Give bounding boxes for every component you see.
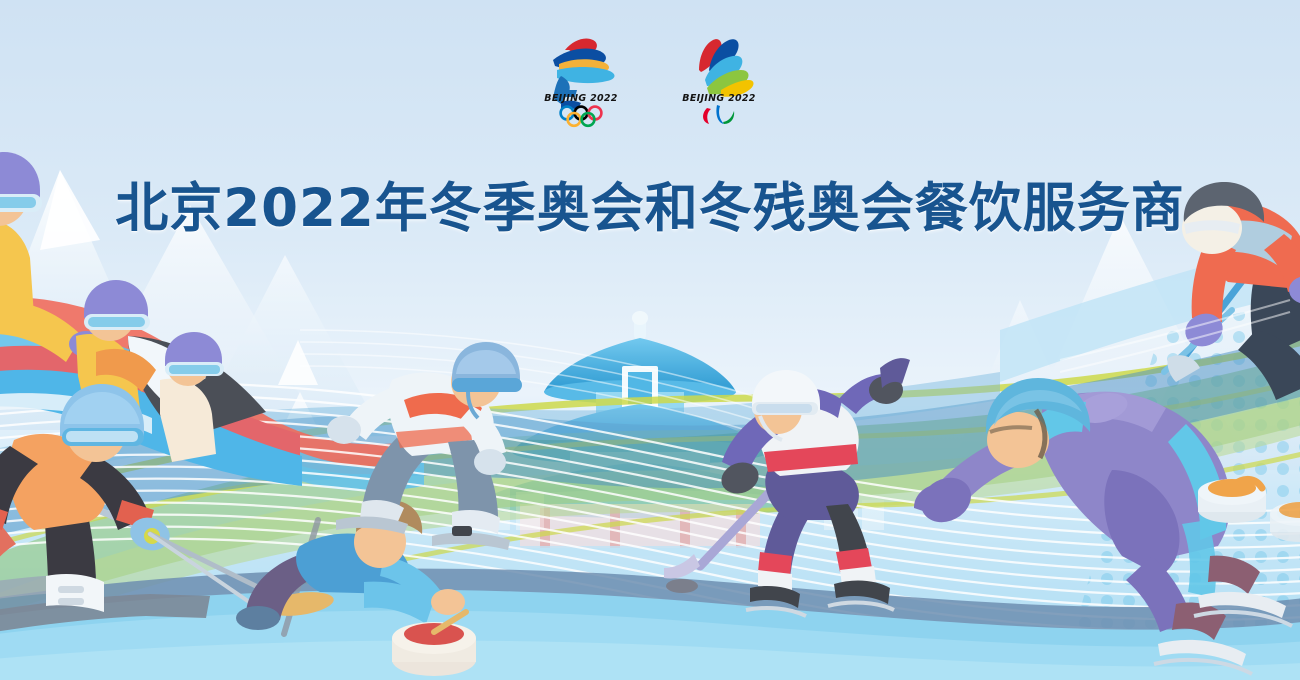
- beijing-2022-olympic-emblem: BEIJING 2022: [535, 28, 627, 128]
- page-title: 北京2022年冬季奥会和冬残奥会餐饮服务商: [0, 179, 1300, 238]
- athlete-ice-hockey-player: [664, 358, 910, 616]
- paralympic-emblem-symbol: [699, 39, 754, 97]
- paralympic-agitos-icon: [703, 105, 734, 124]
- paralympic-wordmark-text: BEIJING 2022: [682, 93, 756, 104]
- olympic-wordmark-text: BEIJING 2022: [544, 93, 618, 104]
- olympics-catering-banner: BEIJING 2022: [0, 0, 1300, 680]
- athlete-speed-skater: [913, 378, 1292, 674]
- beijing-2022-paralympic-emblem: BEIJING 2022: [673, 28, 765, 128]
- emblem-row: BEIJING 2022: [0, 28, 1300, 128]
- curling-stone-orange-2: [1270, 502, 1300, 542]
- curling-stone-orange: [1198, 479, 1266, 523]
- athlete-short-track-skater: [327, 342, 522, 550]
- olympic-rings-icon: [561, 107, 602, 126]
- curling-stone-red: [392, 612, 476, 676]
